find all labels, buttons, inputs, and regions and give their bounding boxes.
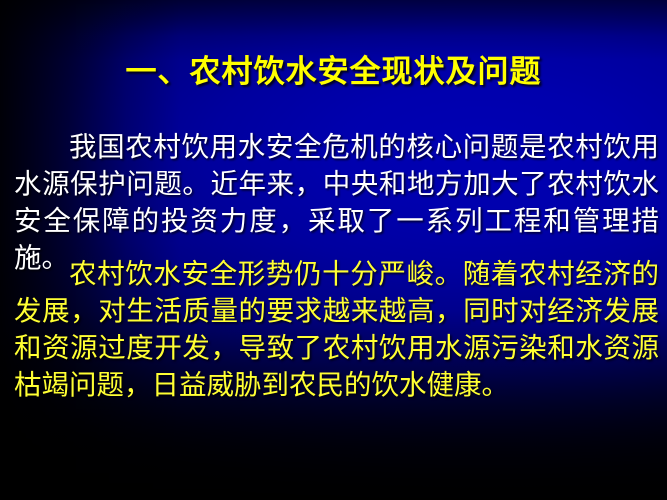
presentation-slide: 一、农村饮水安全现状及问题 我国农村饮用水安全危机的核心问题是农村饮用水源保护问… [0, 0, 667, 500]
body-paragraph-1: 我国农村饮用水安全危机的核心问题是农村饮用水源保护问题。近年来，中央和地方加大了… [14, 128, 659, 276]
slide-content: 一、农村饮水安全现状及问题 我国农村饮用水安全危机的核心问题是农村饮用水源保护问… [0, 0, 667, 500]
slide-title: 一、农村饮水安全现状及问题 [0, 52, 667, 92]
body-paragraph-2: 农村饮水安全形势仍十分严峻。随着农村经济的发展，对生活质量的要求越来越高，同时对… [14, 255, 659, 403]
